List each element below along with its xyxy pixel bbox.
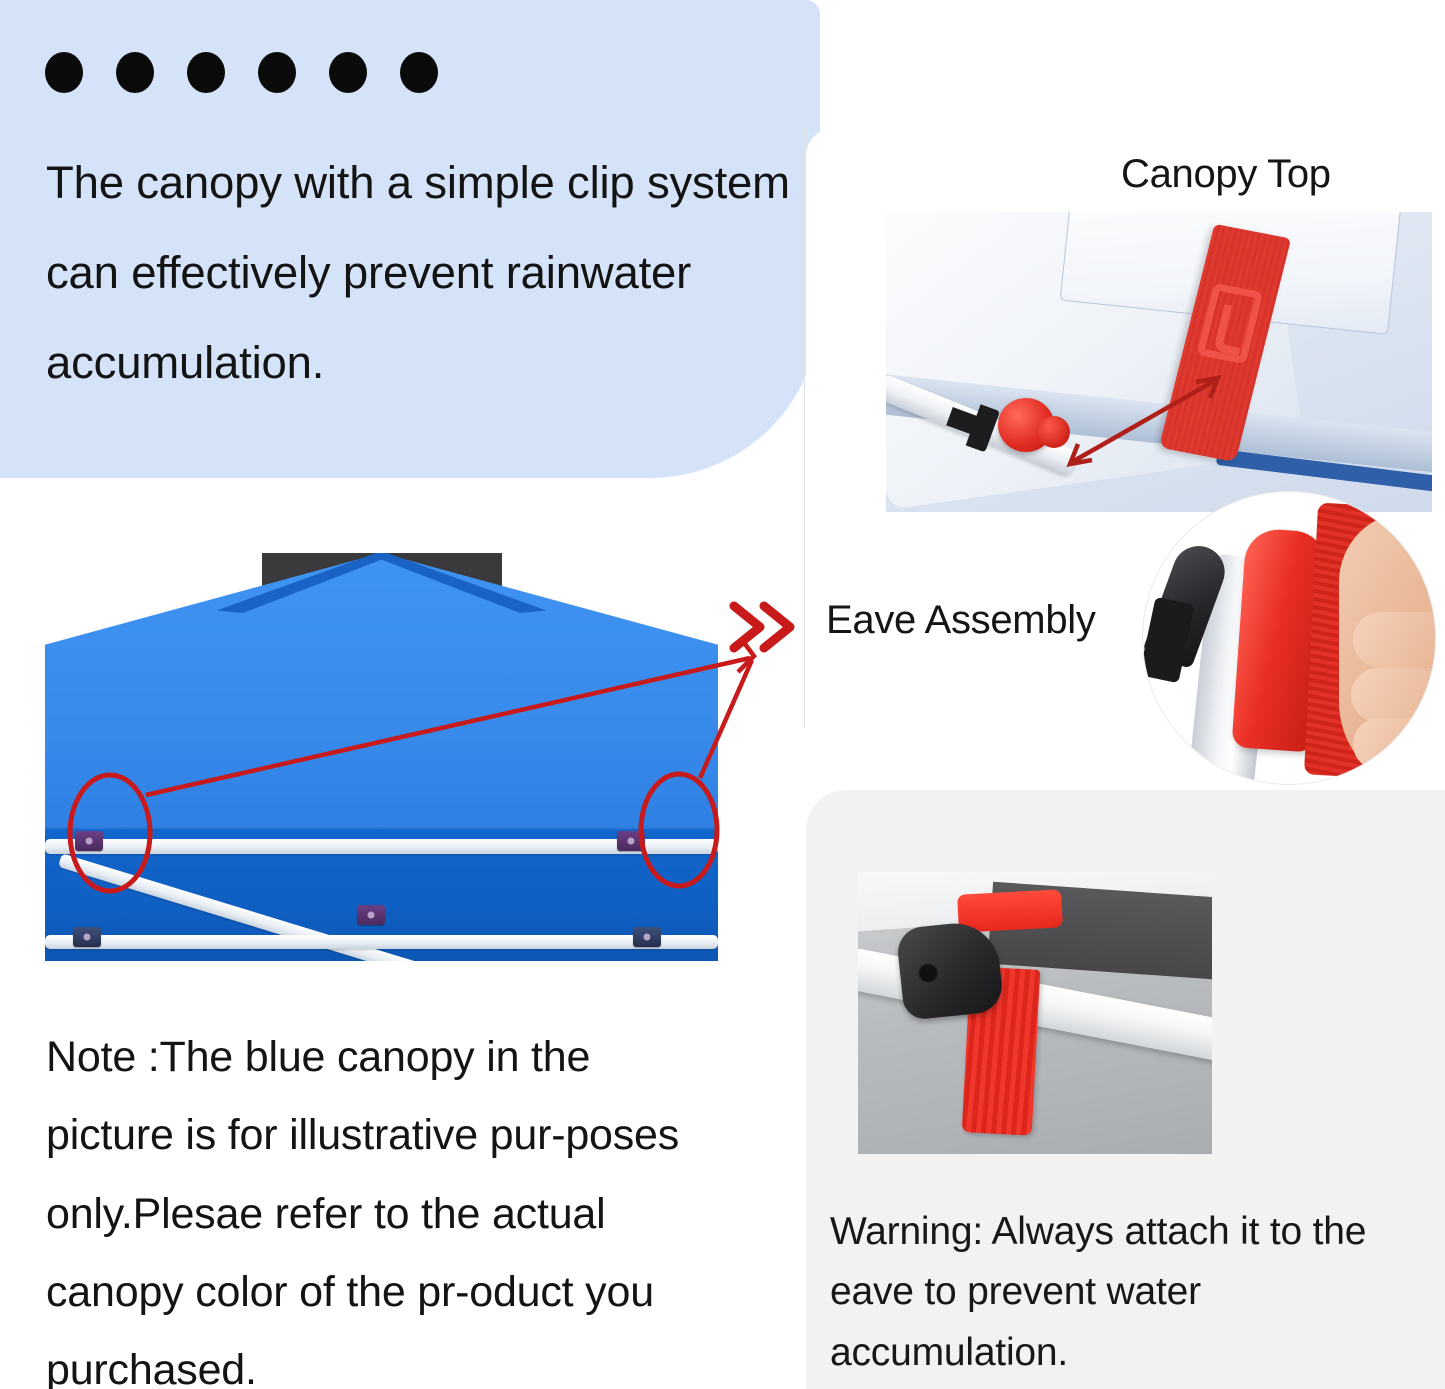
infographic-page: The canopy with a simple clip system can… [0, 0, 1445, 1389]
headline-callout-box: The canopy with a simple clip system can… [0, 0, 820, 478]
double-chevron-right-icon [726, 596, 800, 658]
inset-black-bracket [1143, 597, 1195, 684]
column-divider [804, 128, 805, 728]
frame-bar-bottom [45, 935, 718, 949]
canopy-clip-fitting [73, 927, 101, 947]
bullet-dot-icon [116, 52, 154, 93]
blue-canopy-photo [45, 553, 718, 961]
bullet-dot-icon [258, 52, 296, 93]
label-canopy-top: Canopy Top [1121, 152, 1331, 197]
bullet-dot-icon [400, 52, 438, 93]
headline-text: The canopy with a simple clip system can… [46, 138, 806, 408]
canopy-upper-panel [45, 553, 718, 831]
bullet-dots-row [45, 52, 438, 93]
label-eave-assembly: Eave Assembly [826, 598, 1096, 643]
eave-clip-circle-inset-photo [1143, 492, 1435, 784]
inset-finger [1353, 612, 1435, 668]
illustrative-note-text: Note :The blue canopy in the picture is … [46, 1018, 726, 1389]
inset-finger [1351, 668, 1435, 722]
black-clip-hook [895, 919, 1004, 1021]
canopy-clip-fitting [617, 831, 645, 851]
red-strap-upper [957, 889, 1063, 932]
canopy-clip-fitting [357, 905, 385, 925]
bullet-dot-icon [187, 52, 225, 93]
inset-finger [1353, 718, 1435, 770]
canopy-clip-fitting [633, 927, 661, 947]
bullet-dot-icon [329, 52, 367, 93]
canopy-top-photo [886, 212, 1432, 512]
bullet-dot-icon [45, 52, 83, 93]
eave-strap-attachment-photo [858, 872, 1212, 1154]
double-headed-arrow-icon [886, 212, 1432, 512]
warning-text: Warning: Always attach it to the eave to… [830, 1202, 1430, 1383]
canopy-clip-fitting [75, 831, 103, 851]
